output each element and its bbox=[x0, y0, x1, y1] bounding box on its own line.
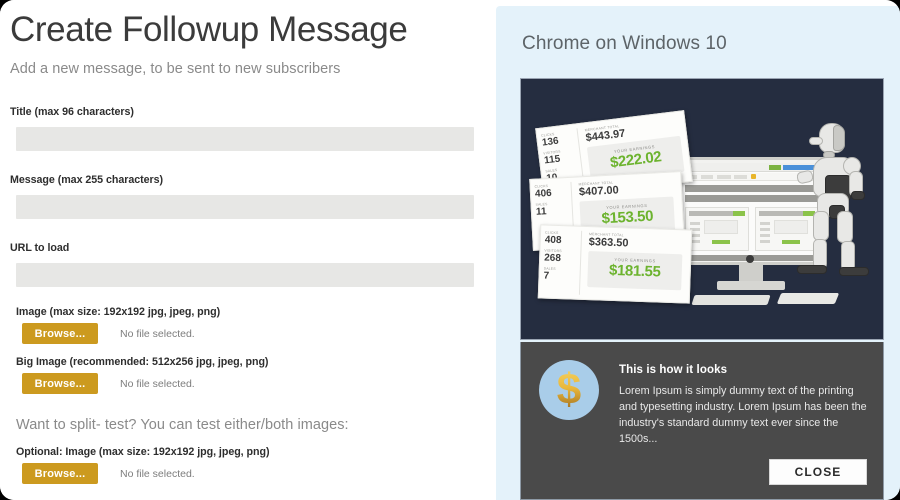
toolbar-chip bbox=[717, 175, 731, 179]
preview-title: Chrome on Windows 10 bbox=[522, 33, 900, 55]
receipt-total: MERCHANT TOTAL $443.97 bbox=[585, 124, 626, 145]
url-field-label: URL to load bbox=[10, 242, 466, 254]
receipt-stat-value: 268 bbox=[544, 253, 578, 265]
receipt-stat-value: 406 bbox=[535, 187, 570, 200]
message-field-label: Message (max 255 characters) bbox=[10, 174, 466, 186]
robot-left-arm bbox=[796, 169, 814, 184]
message-input[interactable] bbox=[16, 195, 474, 219]
dollar-glyph: $ bbox=[557, 368, 581, 412]
panel-row bbox=[690, 222, 700, 225]
receipt-card: CLICKS 408 VISITORS 268 SALES 7 MERCHANT… bbox=[538, 224, 692, 303]
toolbar-chip bbox=[701, 175, 713, 179]
optional-image-file-status: No file selected. bbox=[120, 468, 195, 480]
receipt-total-value: $363.50 bbox=[589, 236, 629, 250]
page-title: Create Followup Message bbox=[10, 10, 466, 49]
optional-image-browse-button[interactable]: Browse... bbox=[22, 463, 98, 484]
receipt-stat-value: 11 bbox=[536, 205, 571, 218]
panel-accent-green bbox=[733, 211, 745, 216]
big-image-upload-row: Browse... No file selected. bbox=[22, 373, 466, 394]
followup-message-form-panel: Create Followup Message Add a new messag… bbox=[0, 0, 490, 500]
robot-right-foot bbox=[839, 267, 869, 276]
notification-body: Lorem Ipsum is simply dummy text of the … bbox=[619, 384, 871, 448]
robot-hand bbox=[851, 191, 865, 200]
content-bar bbox=[685, 185, 819, 192]
big-image-browse-button[interactable]: Browse... bbox=[22, 373, 98, 394]
robot-left-foot bbox=[797, 265, 827, 274]
panel-row bbox=[760, 222, 770, 225]
receipt-stats: CLICKS 408 VISITORS 268 SALES 7 bbox=[543, 231, 579, 286]
panel-value-box bbox=[704, 220, 738, 234]
image-upload-row: Browse... No file selected. bbox=[22, 323, 466, 344]
dashboard-panel bbox=[685, 207, 749, 251]
monitor-power-dot bbox=[746, 255, 754, 263]
split-test-heading: Want to split- test? You can test either… bbox=[16, 417, 466, 433]
receipt-total-value: $407.00 bbox=[579, 184, 619, 199]
notification-close-button[interactable]: CLOSE bbox=[769, 459, 867, 485]
toolbar-chip bbox=[734, 175, 747, 179]
robot-left-thigh bbox=[813, 211, 829, 241]
big-image-upload-label: Big Image (recommended: 512x256 jpg, jpe… bbox=[16, 356, 466, 368]
notification-preview: $ This is how it looks Lorem Ipsum is si… bbox=[520, 342, 884, 500]
title-field-label: Title (max 96 characters) bbox=[10, 106, 466, 118]
panel-header-bar bbox=[689, 211, 735, 216]
panel-value-green bbox=[712, 240, 730, 244]
panel-row bbox=[760, 240, 770, 243]
keyboard-illustration bbox=[691, 295, 770, 305]
panel-row bbox=[760, 228, 770, 231]
robot-illustration bbox=[803, 123, 875, 303]
browser-tab-green bbox=[769, 165, 781, 170]
image-browse-button[interactable]: Browse... bbox=[22, 323, 98, 344]
panel-header-bar bbox=[759, 211, 805, 216]
robot-right-thigh bbox=[837, 211, 853, 243]
receipt-stats: CLICKS 406 SALES 11 bbox=[535, 183, 571, 221]
preview-panel: Chrome on Windows 10 bbox=[496, 6, 900, 500]
receipt-total: MERCHANT TOTAL $363.50 bbox=[589, 232, 629, 250]
url-input[interactable] bbox=[16, 263, 474, 287]
receipt-earnings-value: $181.55 bbox=[587, 261, 682, 283]
preview-illustration: CLICKS 136 VISITORS 115 SALES 10 MERCHAN… bbox=[520, 78, 884, 340]
optional-image-upload-row: Browse... No file selected. bbox=[22, 463, 466, 484]
image-file-status: No file selected. bbox=[120, 328, 195, 340]
panel-value-green bbox=[782, 240, 800, 244]
star-icon bbox=[751, 174, 756, 179]
big-image-file-status: No file selected. bbox=[120, 378, 195, 390]
title-input[interactable] bbox=[16, 127, 474, 151]
receipt-stat-value: 7 bbox=[543, 271, 577, 283]
robot-face-visor bbox=[809, 137, 823, 145]
receipt-stat-value: 408 bbox=[545, 235, 579, 247]
browser-topbar bbox=[679, 163, 819, 172]
app-page: Create Followup Message Add a new messag… bbox=[0, 0, 900, 500]
dollar-sign-icon: $ bbox=[539, 360, 599, 420]
receipt-divider bbox=[579, 231, 582, 295]
page-subtitle: Add a new message, to be sent to new sub… bbox=[10, 61, 466, 77]
image-upload-label: Image (max size: 192x192 jpg, jpeg, png) bbox=[16, 306, 466, 318]
receipt-total: MERCHANT TOTAL $407.00 bbox=[578, 180, 619, 199]
notification-title: This is how it looks bbox=[619, 364, 727, 376]
panel-row bbox=[760, 234, 770, 237]
receipt-earnings: YOUR EARNINGS $181.55 bbox=[587, 251, 682, 290]
content-bar bbox=[685, 195, 819, 202]
robot-head-shade bbox=[833, 125, 845, 151]
optional-image-upload-label: Optional: Image (max size: 192x192 jpg, … bbox=[16, 446, 466, 458]
monitor-stand-foot bbox=[717, 281, 785, 290]
